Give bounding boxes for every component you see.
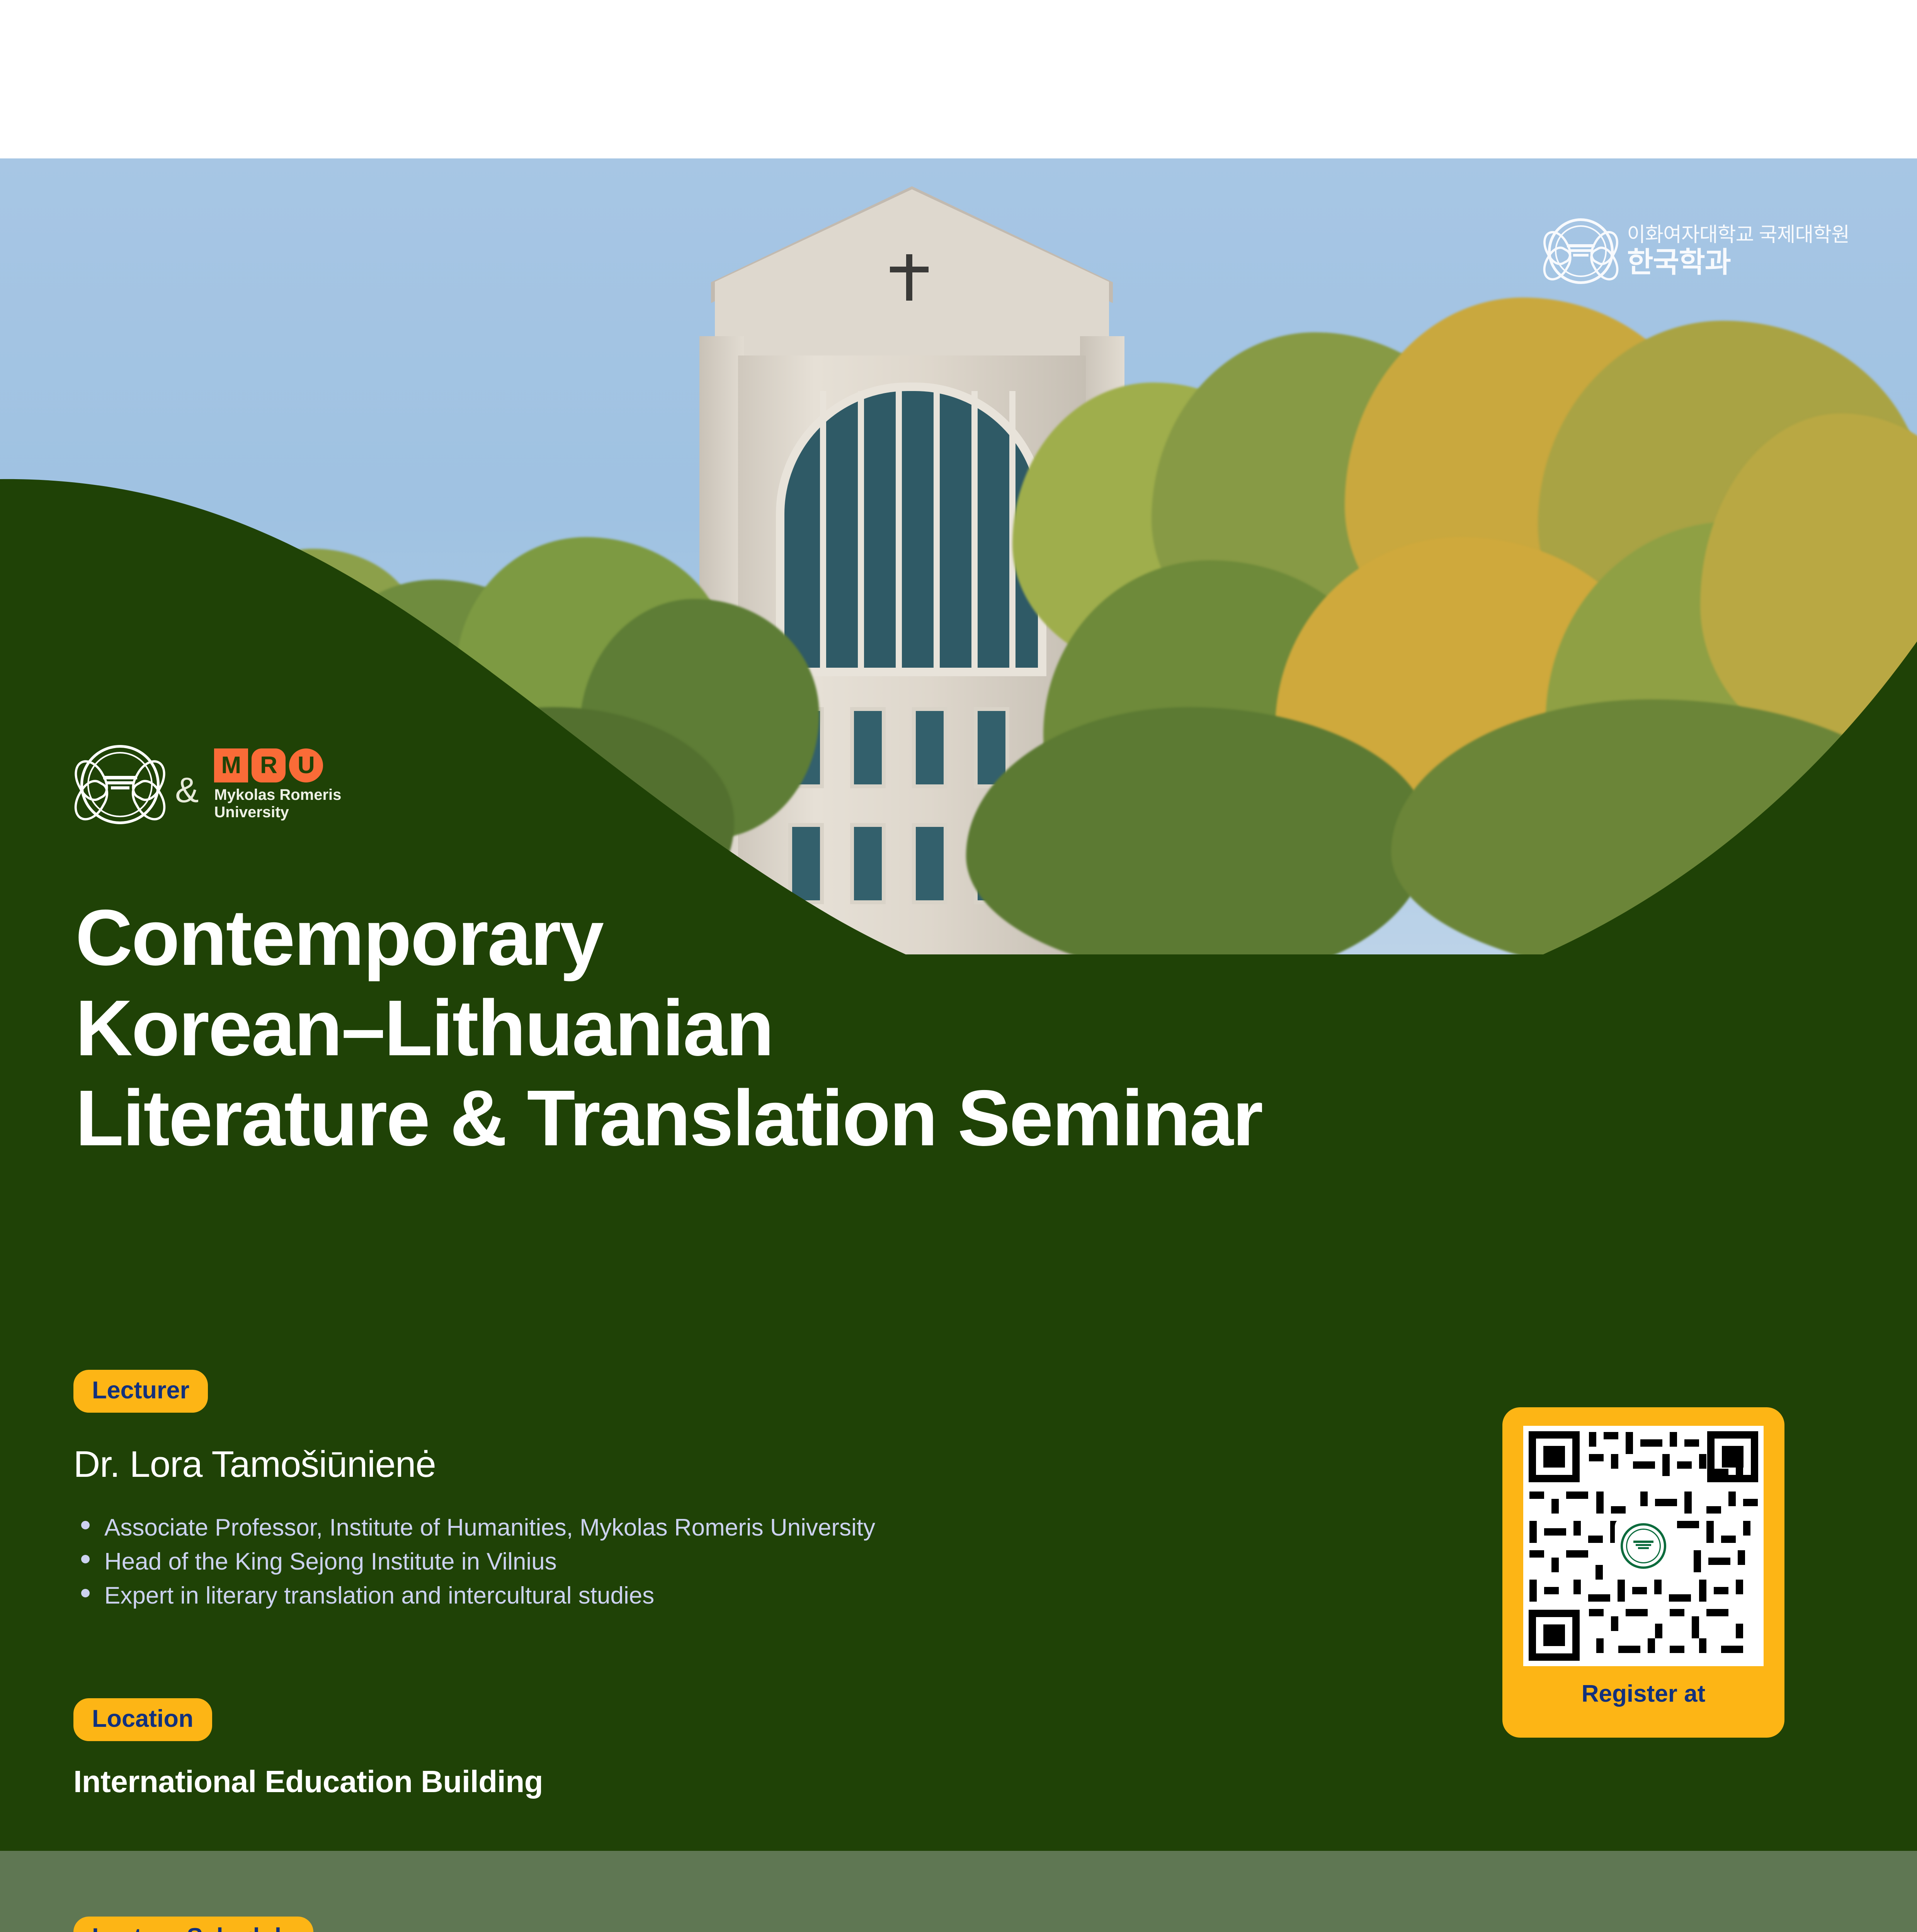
credential-text: Expert in literary translation and inter… <box>104 1582 654 1609</box>
lecturer-badge: Lecturer <box>73 1370 208 1413</box>
qr-center-seal-icon <box>1615 1517 1672 1575</box>
list-item: Expert in literary translation and inter… <box>77 1579 875 1613</box>
mru-letter-u: U <box>289 748 323 782</box>
register-label: Register at <box>1582 1680 1705 1708</box>
list-item: Associate Professor, Institute of Humani… <box>77 1511 875 1545</box>
bullet-icon <box>81 1589 90 1597</box>
register-qr-card[interactable]: Register at <box>1502 1407 1784 1738</box>
ewha-seal-icon <box>1548 218 1614 284</box>
bullet-icon <box>81 1555 90 1563</box>
lecturer-badge-wrap: Lecturer <box>73 1370 208 1413</box>
poster-root: 이화여자대학교 국제대학원 한국학과 & M R U <box>0 158 1917 1932</box>
autumn-trees <box>0 460 1917 954</box>
qr-code[interactable] <box>1523 1426 1764 1666</box>
title-line-2: Korean–Lithuanian <box>75 983 1814 1073</box>
bullet-icon <box>81 1521 90 1529</box>
schedule-badge-wrap: Lecture Schedule <box>73 1917 313 1932</box>
mru-logo: M R U Mykolas Romeris University <box>214 748 341 821</box>
poster-title: Contemporary Korean–Lithuanian Literatur… <box>75 893 1814 1163</box>
list-item: Head of the King Sejong Institute in Vil… <box>77 1545 875 1579</box>
partner-logos: & M R U Mykolas Romeris University <box>80 745 341 824</box>
ewha-logo-line1: 이화여자대학교 국제대학원 <box>1627 224 1849 246</box>
ewha-graduate-school-logo: 이화여자대학교 국제대학원 한국학과 <box>1548 218 1849 284</box>
schedule-badge: Lecture Schedule <box>73 1917 313 1932</box>
mru-letter-r: R <box>252 748 286 782</box>
credential-text: Head of the King Sejong Institute in Vil… <box>104 1548 557 1575</box>
location-value: International Education Building <box>73 1764 543 1799</box>
credential-text: Associate Professor, Institute of Humani… <box>104 1514 875 1541</box>
ewha-seal-icon <box>80 745 160 824</box>
mru-name-line1: Mykolas Romeris <box>214 786 341 804</box>
lecturer-name: Dr. Lora Tamošiūnienė <box>73 1443 436 1486</box>
cross-icon <box>906 254 912 301</box>
mru-name-line2: University <box>214 804 341 821</box>
mru-letter-m: M <box>214 748 248 782</box>
title-line-1: Contemporary <box>75 893 1814 983</box>
location-badge-wrap: Location <box>73 1698 212 1741</box>
ewha-logo-line2: 한국학과 <box>1627 247 1849 279</box>
ampersand-label: & <box>175 772 199 808</box>
lecturer-credentials-list: Associate Professor, Institute of Humani… <box>77 1511 875 1613</box>
title-line-3: Literature & Translation Seminar <box>75 1073 1814 1163</box>
location-badge: Location <box>73 1698 212 1741</box>
